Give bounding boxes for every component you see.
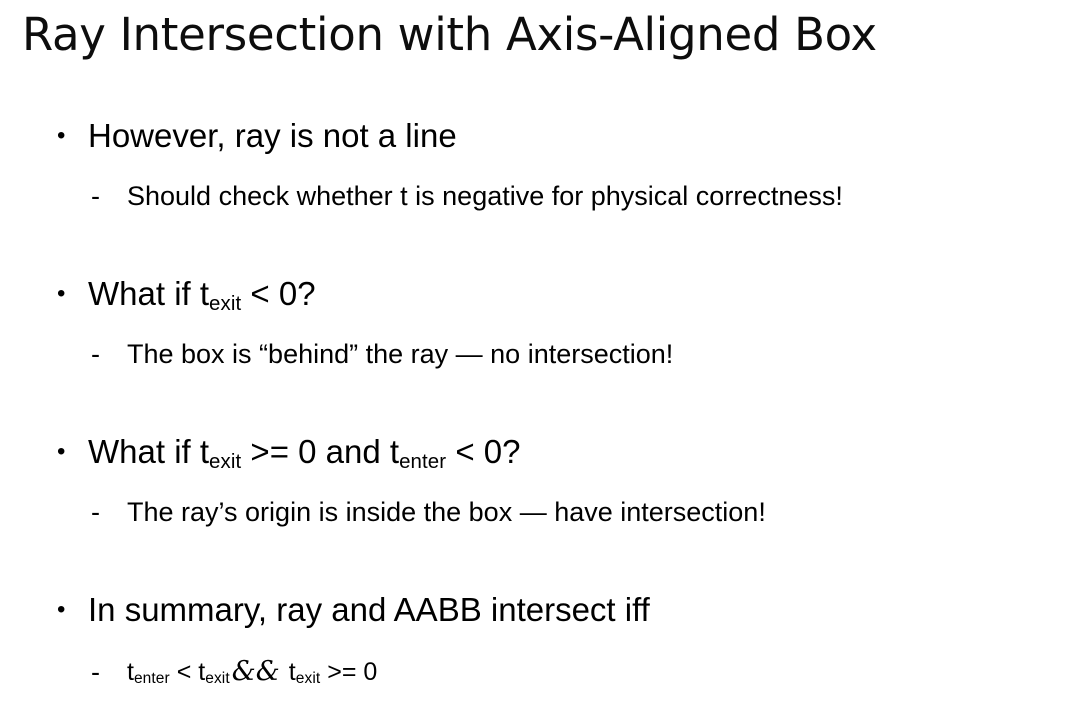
bullet-text-summary: In summary, ray and AABB intersect iff — [88, 591, 650, 628]
bullet-dot-icon: • — [57, 428, 71, 476]
bullet-item-summary: •In summary, ray and AABB intersect iff — [0, 586, 1078, 634]
subscript-exit: exit — [205, 670, 230, 687]
subscript-exit: exit — [209, 450, 241, 473]
subbullet-text-box-behind: The box is “behind” the ray — no interse… — [127, 339, 673, 369]
bullet-item-texit-negative: •What if texit < 0? — [0, 270, 1078, 318]
bullet-dot-icon: • — [57, 270, 71, 318]
formula-logical-and: && — [230, 656, 282, 687]
bullet-text-middle: < 0? — [241, 275, 315, 312]
formula-suffix: >= 0 — [320, 658, 377, 686]
subbullet-item-box-behind: -The box is “behind” the ray — no inters… — [0, 332, 1078, 376]
bullet-text-middle: >= 0 and t — [241, 433, 399, 470]
bullet-group-texit-nonneg: •What if texit >= 0 and tenter < 0? -The… — [0, 428, 1078, 534]
bullet-text-prefix: What if t — [88, 433, 209, 470]
bullet-text-however: However, ray is not a line — [88, 117, 457, 154]
dash-marker-icon: - — [91, 174, 100, 218]
dash-marker-icon: - — [91, 332, 100, 376]
formula-less-than: < t — [170, 658, 205, 686]
formula-tail-prefix: t — [282, 658, 296, 686]
bullet-group-however: •However, ray is not a line -Should chec… — [0, 112, 1078, 218]
formula-t-prefix: t — [127, 658, 134, 686]
bullet-text-suffix: < 0? — [446, 433, 520, 470]
subbullet-text-check-negative: Should check whether t is negative for p… — [127, 181, 843, 211]
bullet-dot-icon: • — [57, 112, 71, 160]
slide-canvas: Ray Intersection with Axis-Aligned Box •… — [0, 0, 1078, 720]
bullet-dot-icon: • — [57, 586, 71, 634]
bullet-group-summary: •In summary, ray and AABB intersect iff … — [0, 586, 1078, 694]
bullet-text-prefix: What if t — [88, 275, 209, 312]
subbullet-text-origin-inside: The ray’s origin is inside the box — hav… — [127, 497, 766, 527]
dash-marker-icon: - — [91, 490, 100, 534]
slide-body: •However, ray is not a line -Should chec… — [0, 112, 1078, 714]
subscript-enter: enter — [399, 450, 446, 473]
subbullet-item-summary-formula: -tenter < texit&& texit >= 0 — [0, 650, 1078, 694]
bullet-group-texit-negative: •What if texit < 0? -The box is “behind”… — [0, 270, 1078, 376]
bullet-item-however: •However, ray is not a line — [0, 112, 1078, 160]
page-title: Ray Intersection with Axis-Aligned Box — [22, 6, 877, 64]
subscript-exit: exit — [209, 292, 241, 315]
subbullet-item-check-negative: -Should check whether t is negative for … — [0, 174, 1078, 218]
bullet-item-texit-nonneg: •What if texit >= 0 and tenter < 0? — [0, 428, 1078, 476]
subscript-enter: enter — [134, 670, 170, 687]
subbullet-item-origin-inside: -The ray’s origin is inside the box — ha… — [0, 490, 1078, 534]
subscript-exit-tail: exit — [296, 670, 321, 687]
dash-marker-icon: - — [91, 650, 100, 694]
